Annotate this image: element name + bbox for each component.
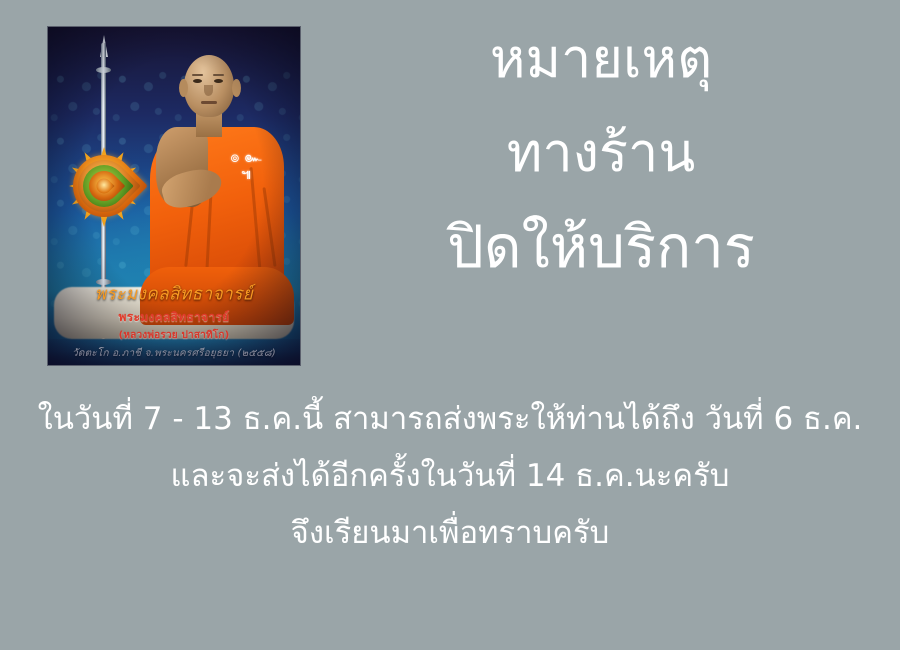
monk-portrait-photo: ๏ ๛ ๚ พระมงคลสิทธาจารย์ พระมงคลสิทธาจารย… [48,27,300,365]
body-line-1: ในวันที่ 7 - 13 ธ.ค.นี้ สามารถส่งพระให้ท… [0,404,900,435]
body-block: ในวันที่ 7 - 13 ธ.ค.นี้ สามารถส่งพระให้ท… [0,404,900,575]
notice-poster: ๏ ๛ ๚ พระมงคลสิทธาจารย์ พระมงคลสิทธาจารย… [0,0,900,650]
headline-shop: ทางร้าน [318,126,884,180]
caption-band [48,339,300,365]
body-line-3: จึงเรียนมาเพื่อทราบครับ [0,518,900,549]
body-line-2: และจะส่งได้อีกครั้งในวันที่ 14 ธ.ค.นะครั… [0,461,900,492]
caption-script-title: พระมงคลสิทธาจารย์ [48,279,300,307]
photo-caption: พระมงคลสิทธาจารย์ พระมงคลสิทธาจารย์ (หลว… [48,280,300,365]
headline-closed: ปิดให้บริการ [318,218,884,276]
headline-block: หมายเหตุ ทางร้าน ปิดให้บริการ [318,20,884,276]
headline-note: หมายเหตุ [318,32,884,86]
caption-red-title: พระมงคลสิทธาจารย์ [48,308,300,327]
